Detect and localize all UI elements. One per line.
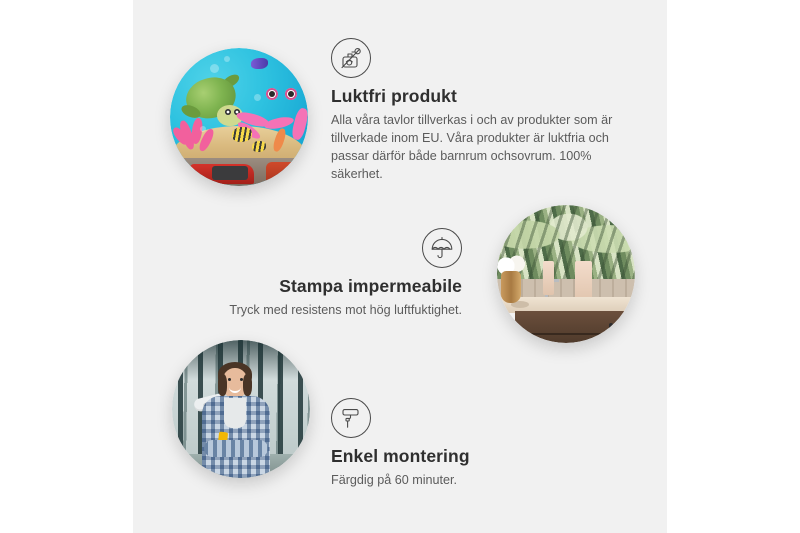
feature-body: Färgdig på 60 minuter. xyxy=(331,471,581,489)
photo-kids-underwater-mural xyxy=(170,48,308,186)
bubble xyxy=(254,94,261,101)
towel xyxy=(543,261,554,295)
striped-fish xyxy=(252,141,266,152)
photo-bathroom-tropical-wallpaper xyxy=(497,205,635,343)
crossed-arms xyxy=(204,440,268,457)
product-feature-graphic: Luktfri produkt Alla våra tavlor tillver… xyxy=(0,0,800,533)
octopus-eye xyxy=(266,88,278,100)
feature-title: Enkel montering xyxy=(331,446,581,467)
cabinet-handle xyxy=(609,323,613,343)
bubble xyxy=(210,64,219,73)
icon-wrap xyxy=(200,228,462,268)
icon-wrap xyxy=(331,38,629,78)
wooden-vanity xyxy=(515,311,635,343)
hair xyxy=(243,374,252,396)
vase xyxy=(501,271,521,303)
turtle-eye xyxy=(225,109,231,115)
feature-body: Alla våra tavlor tillverkas i och av pro… xyxy=(331,111,629,183)
hair xyxy=(218,374,227,396)
eye xyxy=(228,378,231,381)
umbrella-icon xyxy=(422,228,462,268)
drawer-seam xyxy=(515,333,635,335)
feature-waterproof: Stampa impermeabile Tryck med resistens … xyxy=(200,228,462,319)
octopus-eye xyxy=(285,88,297,100)
feature-body: Tryck med resistens mot hög luftfuktighe… xyxy=(200,301,462,319)
white-tshirt xyxy=(224,398,246,428)
feature-title: Stampa impermeabile xyxy=(200,276,462,297)
photo-woman-painter-forest-mural xyxy=(172,340,310,478)
blue-fish xyxy=(251,58,268,69)
cabinet-handle xyxy=(626,323,630,343)
bubble xyxy=(224,56,230,62)
eye xyxy=(240,378,243,381)
feature-odourless: Luktfri produkt Alla våra tavlor tillver… xyxy=(331,38,629,183)
feature-title: Luktfri produkt xyxy=(331,86,629,107)
light-object xyxy=(290,164,302,180)
striped-fish xyxy=(232,127,252,142)
icon-wrap xyxy=(331,398,581,438)
bubble xyxy=(200,126,206,132)
paint-roller-icon xyxy=(331,398,371,438)
room-interior-strip xyxy=(170,158,308,186)
feature-easy-install: Enkel montering Färgdig på 60 minuter. xyxy=(331,398,581,489)
no-fragrance-icon xyxy=(331,38,371,78)
dark-furniture xyxy=(212,166,248,180)
